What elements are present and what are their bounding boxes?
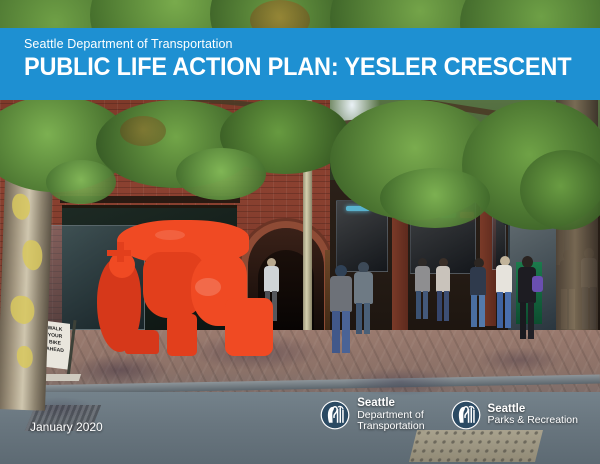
page-title: PUBLIC LIFE ACTION PLAN: YESLER CRESCENT xyxy=(24,53,543,82)
logo-line-3: Transportation xyxy=(357,421,424,433)
tree-trunk-right xyxy=(556,100,598,330)
city-of-seattle-seal-icon xyxy=(320,400,350,430)
street-pole xyxy=(303,100,312,330)
facade-sill xyxy=(60,196,240,203)
brick-pier xyxy=(392,180,408,330)
sdot-logo: Seattle Department of Transportation xyxy=(320,398,424,433)
report-cover-page: WALK YOUR BIKE AHEAD xyxy=(0,0,600,464)
neon-sign xyxy=(414,212,434,218)
pedestrian xyxy=(494,256,514,330)
neon-sign xyxy=(346,206,370,211)
handbag xyxy=(532,276,543,292)
pedestrian-foreground xyxy=(328,265,354,353)
parks-logo: Seattle Parks & Recreation xyxy=(451,400,578,430)
pedestrian xyxy=(515,256,539,340)
neon-sign xyxy=(460,212,474,218)
pedestrian xyxy=(434,258,452,322)
pedestrian xyxy=(413,258,431,320)
neon-sign xyxy=(440,210,456,218)
logo-line-1: Seattle xyxy=(357,398,424,410)
tactile-warning-pad xyxy=(409,430,543,462)
pedestrian xyxy=(352,262,374,334)
agency-name: Seattle Department of Transportation xyxy=(24,37,576,51)
title-band: Seattle Department of Transportation PUB… xyxy=(0,28,600,100)
publication-date: January 2020 xyxy=(30,420,103,434)
pedestrian xyxy=(468,258,488,328)
city-of-seattle-seal-icon xyxy=(451,400,481,430)
sdot-logo-text: Seattle Department of Transportation xyxy=(357,398,424,433)
red-public-art-sculpture xyxy=(95,218,295,358)
parks-logo-text: Seattle Parks & Recreation xyxy=(488,404,578,427)
logo-line-2: Parks & Recreation xyxy=(488,415,578,427)
agency-logos: Seattle Department of Transportation Sea… xyxy=(320,398,578,433)
